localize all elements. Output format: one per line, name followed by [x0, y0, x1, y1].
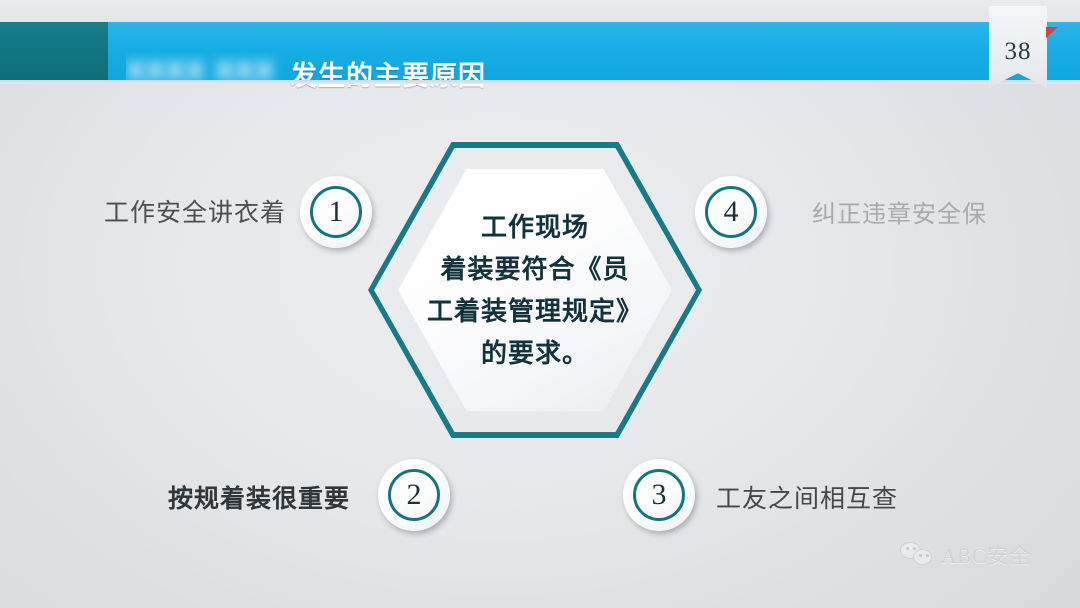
slide-canvas: XXXX XXX 发生的主要原因 38 工作现场 着装要符合《员 工着装管理规定… [0, 0, 1080, 608]
node-circle-3[interactable]: 3 [623, 459, 695, 531]
wechat-icon [900, 542, 934, 568]
node-circle-2[interactable]: 2 [378, 459, 450, 531]
center-hexagon [368, 142, 702, 438]
title-redacted-text: XXXX XXX [126, 52, 286, 90]
node-label-3: 工友之间相互查 [716, 479, 898, 515]
node-number-1: 1 [329, 197, 344, 227]
node-number-3: 3 [652, 480, 667, 510]
slide-title-bar: XXXX XXX 发生的主要原因 [0, 22, 1080, 80]
node-number-4: 4 [724, 197, 739, 227]
node-label-4: 纠正违章安全保 [812, 194, 987, 229]
node-circle-1[interactable]: 1 [300, 176, 372, 248]
wechat-bubble-small [913, 549, 932, 565]
top-strip [0, 0, 1080, 22]
node-circle-4-ring: 4 [705, 186, 757, 238]
node-circle-1-ring: 1 [310, 186, 362, 238]
watermark: ABC安全 [900, 540, 1031, 570]
node-number-2: 2 [407, 480, 422, 510]
node-circle-4[interactable]: 4 [695, 176, 767, 248]
watermark-text: ABC安全 [941, 540, 1031, 570]
node-circle-2-ring: 2 [388, 469, 440, 521]
title-redacted-prefix: XXXX XXX [126, 52, 286, 90]
title-underline [0, 80, 1080, 84]
page-title: 发生的主要原因 [290, 54, 486, 93]
page-number: 38 [1005, 38, 1032, 66]
ribbon-flag-icon [1046, 27, 1058, 38]
title-accent-block [0, 22, 108, 80]
node-circle-3-ring: 3 [633, 469, 685, 521]
node-label-2: 按规着装很重要 [168, 479, 350, 515]
node-label-1: 工作安全讲衣着 [104, 193, 286, 229]
